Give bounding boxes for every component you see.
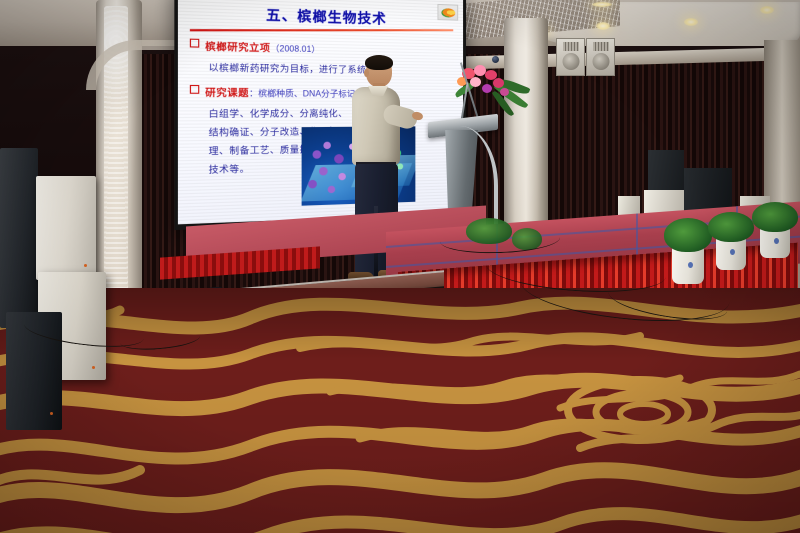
speaker-horn-icon xyxy=(593,42,609,51)
microphone-head-icon xyxy=(492,56,499,63)
bullet-heading: 研究课题 xyxy=(205,87,249,98)
speaker-cone-icon xyxy=(592,53,609,70)
plant-foliage xyxy=(752,202,798,232)
slide-title-underline xyxy=(190,29,453,31)
wall-speaker xyxy=(556,38,585,76)
plant-foliage xyxy=(664,218,712,252)
bullet-heading: 槟榔研究立项 xyxy=(205,41,270,53)
downlight-icon xyxy=(760,6,774,14)
atom-icon xyxy=(334,154,344,164)
bullet-square-icon xyxy=(190,85,199,94)
pot-motif-icon xyxy=(774,238,779,244)
downlight-icon xyxy=(592,2,612,7)
bullet-square-icon xyxy=(190,39,199,48)
presenter-hair xyxy=(365,55,393,70)
presenter-shirt xyxy=(352,87,400,165)
photo-scene: 五、槟榔生物技术 槟榔研究立项（2008.01） 以槟榔新药研究为目标，进行了系… xyxy=(0,0,800,533)
pot-motif-icon xyxy=(688,262,693,268)
speaker-led-icon xyxy=(92,366,95,369)
bullet-subheading: （2008.01） xyxy=(271,44,321,55)
speaker-cabinet xyxy=(0,148,38,328)
downlight-icon xyxy=(596,22,610,30)
speaker-cabinet xyxy=(36,176,96,280)
speaker-led-icon xyxy=(50,412,53,415)
flower-icon xyxy=(493,78,504,88)
plant-foliage xyxy=(708,212,754,242)
pot-motif-icon xyxy=(730,249,735,255)
speaker-horn-icon xyxy=(563,42,579,51)
flower-icon xyxy=(482,84,492,93)
slide-title: 五、槟榔生物技术 xyxy=(190,1,453,30)
speaker-cone-icon xyxy=(562,53,579,70)
atom-icon xyxy=(313,150,322,159)
flower-icon xyxy=(470,77,481,87)
wall-speaker xyxy=(586,38,615,76)
flower-icon xyxy=(500,88,509,96)
presenter-ear xyxy=(364,69,369,77)
downlight-icon xyxy=(684,18,698,26)
mango-logo-icon xyxy=(437,4,458,21)
speaker-led-icon xyxy=(84,264,87,267)
atom-icon xyxy=(323,142,331,149)
